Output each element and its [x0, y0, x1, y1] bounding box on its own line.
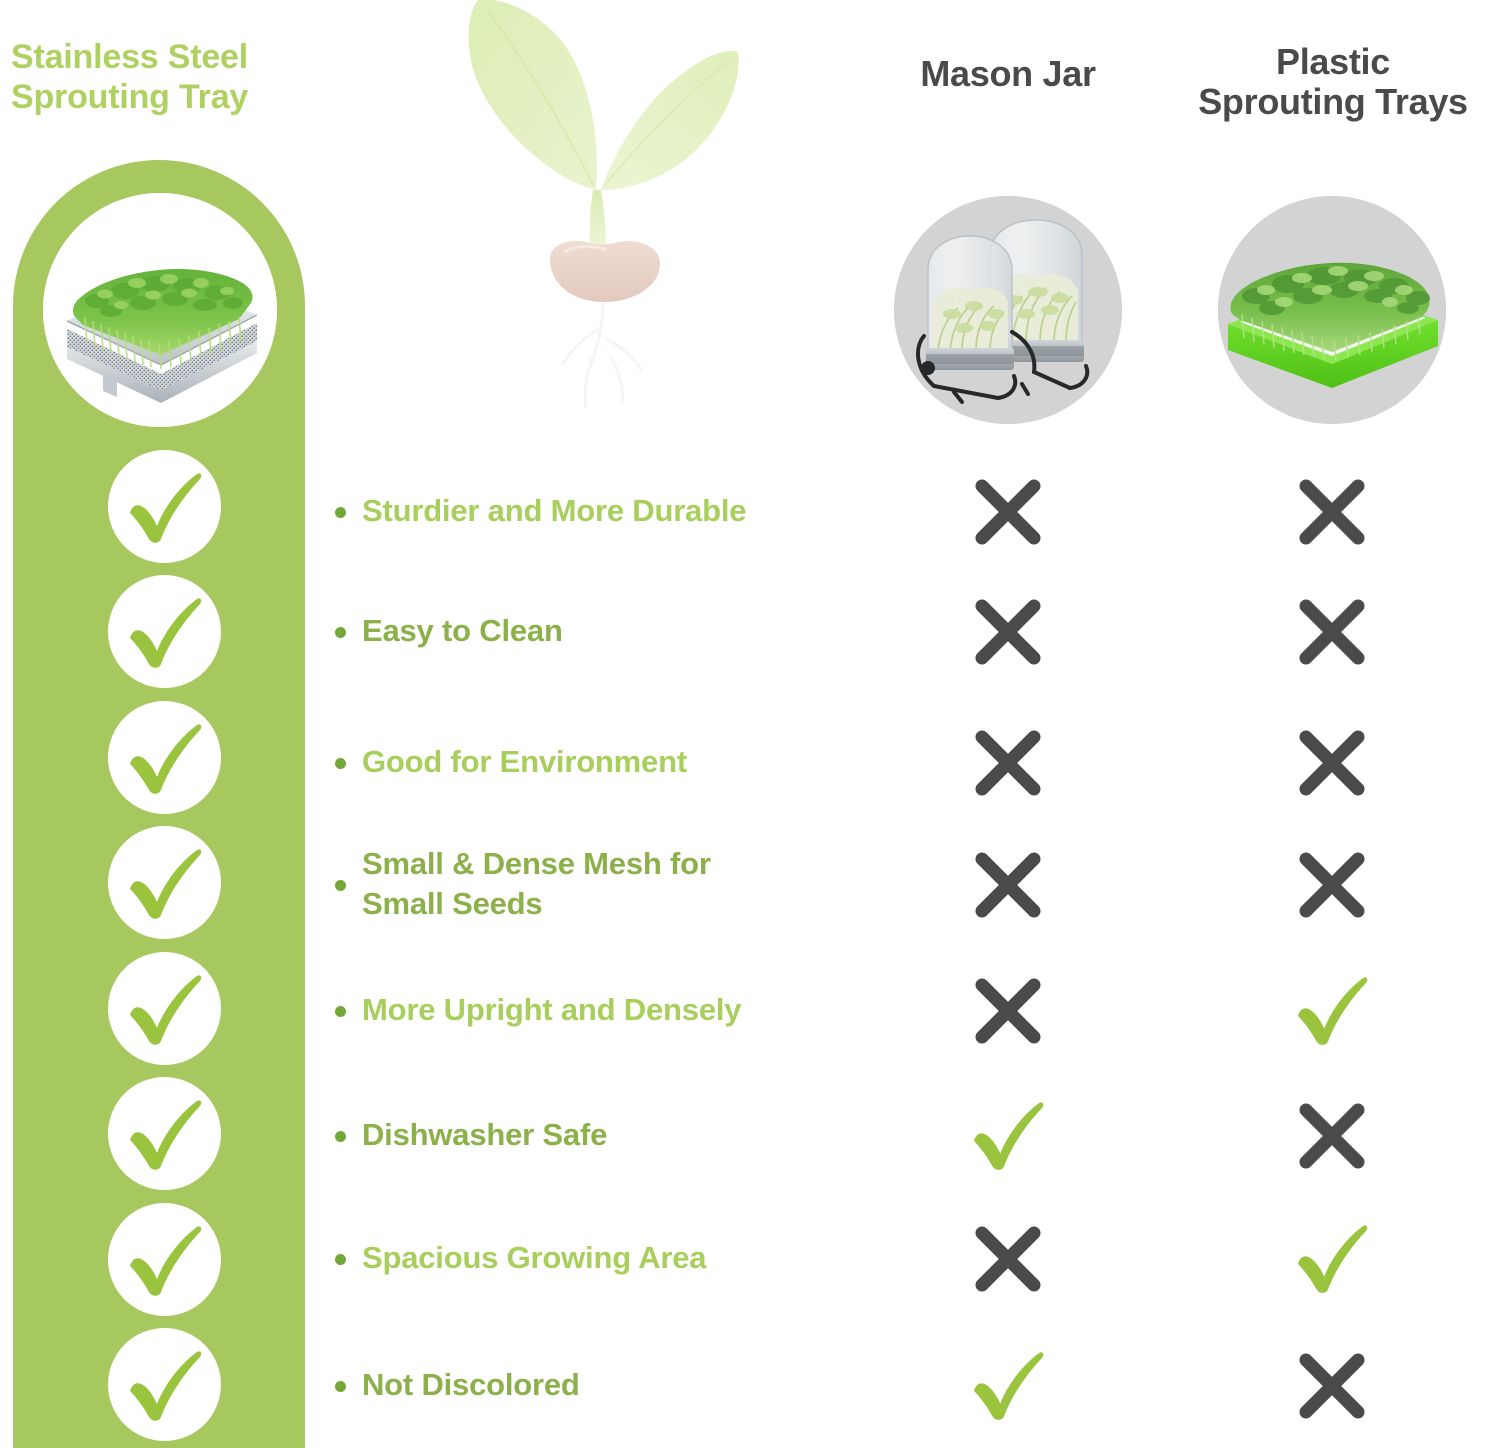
- feature-label: Not Discolored: [362, 1365, 580, 1405]
- feature-label: Sturdier and More Durable: [362, 491, 746, 531]
- bullet-dot-icon: [335, 1131, 346, 1142]
- stainless-check-circle: [108, 1077, 221, 1190]
- cross-mark-icon: [1295, 726, 1369, 800]
- comparison-row: Small & Dense Mesh for Small Seeds: [335, 885, 1495, 886]
- check-mark-icon: [971, 1351, 1045, 1425]
- feature-label: Dishwasher Safe: [362, 1115, 607, 1155]
- feature-label: Easy to Clean: [362, 611, 563, 651]
- stainless-check-circle: [108, 826, 221, 939]
- stainless-check-circle: [108, 952, 221, 1065]
- check-mark-icon: [1295, 1224, 1369, 1298]
- page-title: Stainless Steel Sprouting Tray: [11, 38, 341, 118]
- bullet-dot-icon: [335, 627, 346, 638]
- seedling-watermark-icon: [438, 0, 758, 434]
- cross-mark-icon: [971, 848, 1045, 922]
- stainless-check-circle: [108, 575, 221, 688]
- cross-mark-icon: [971, 595, 1045, 669]
- cross-mark-icon: [1295, 595, 1369, 669]
- cross-mark-icon: [1295, 475, 1369, 549]
- comparison-row: Good for Environment: [335, 763, 1495, 764]
- bullet-dot-icon: [335, 507, 346, 518]
- bullet-dot-icon: [335, 1006, 346, 1017]
- comparison-row: Spacious Growing Area: [335, 1259, 1495, 1260]
- feature-label: Spacious Growing Area: [362, 1238, 706, 1278]
- plastic-tray-photo: [1218, 196, 1446, 424]
- feature-label: More Upright and Densely: [362, 990, 741, 1030]
- comparison-row: Easy to Clean: [335, 632, 1495, 633]
- comparison-row: Not Discolored: [335, 1386, 1495, 1387]
- bullet-dot-icon: [335, 880, 346, 891]
- cross-mark-icon: [1295, 848, 1369, 922]
- stainless-check-circle: [108, 1328, 221, 1441]
- comparison-row: Dishwasher Safe: [335, 1136, 1495, 1137]
- column-header-plastic-trays: Plastic Sprouting Trays: [1180, 42, 1486, 123]
- feature-label: Good for Environment: [362, 742, 687, 782]
- cross-mark-icon: [1295, 1099, 1369, 1173]
- comparison-row: More Upright and Densely: [335, 1011, 1495, 1012]
- stainless-check-circle: [108, 701, 221, 814]
- stainless-check-circle: [108, 450, 221, 563]
- cross-mark-icon: [971, 475, 1045, 549]
- cross-mark-icon: [971, 974, 1045, 1048]
- stainless-tray-photo: [43, 193, 277, 427]
- check-mark-icon: [971, 1101, 1045, 1175]
- cross-mark-icon: [971, 1222, 1045, 1296]
- cross-mark-icon: [1295, 1349, 1369, 1423]
- stainless-check-circle: [108, 1203, 221, 1316]
- feature-label: Small & Dense Mesh for Small Seeds: [362, 844, 711, 923]
- check-mark-icon: [1295, 976, 1369, 1050]
- bullet-dot-icon: [335, 1254, 346, 1265]
- bullet-dot-icon: [335, 1381, 346, 1392]
- mason-jar-photo: [894, 196, 1122, 424]
- bullet-dot-icon: [335, 758, 346, 769]
- cross-mark-icon: [971, 726, 1045, 800]
- comparison-row: Sturdier and More Durable: [335, 512, 1495, 513]
- column-header-mason-jar: Mason Jar: [858, 54, 1158, 94]
